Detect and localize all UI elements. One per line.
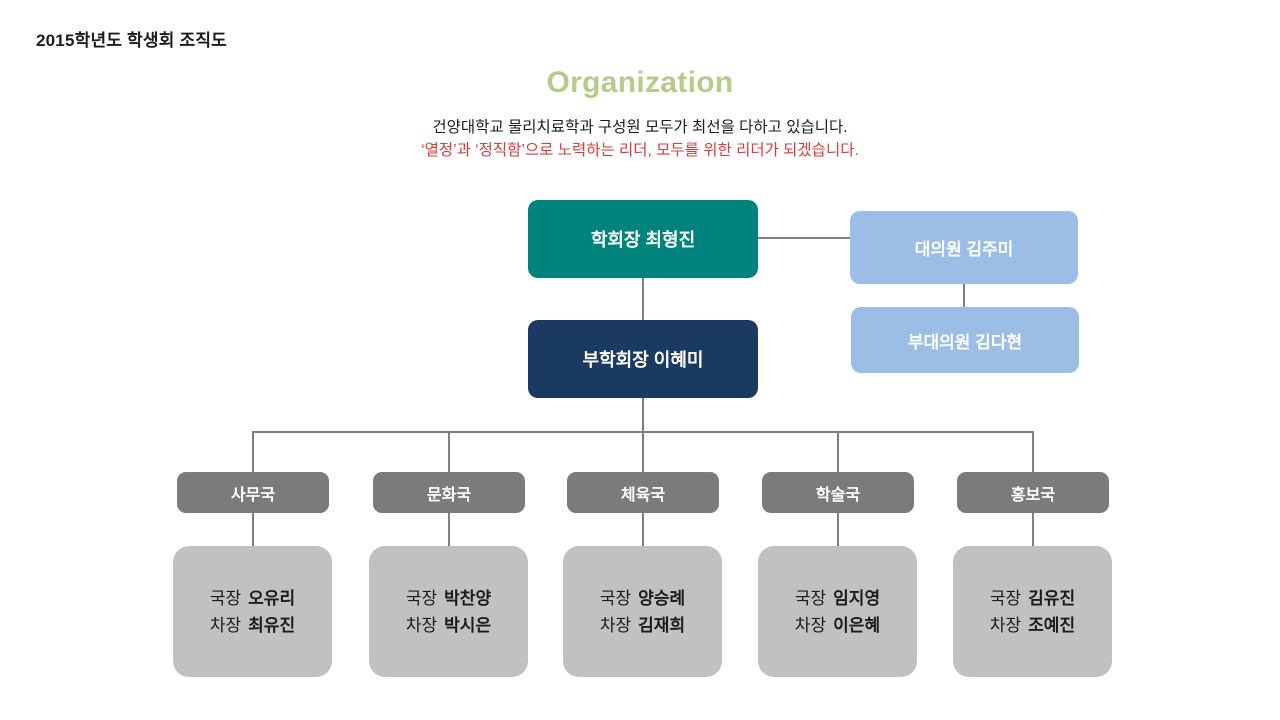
dept-header-2-label: 문화국 [427,481,471,505]
member-role: 국장 [600,589,631,608]
connector-drop-dept-4 [837,431,839,472]
member-role: 국장 [406,589,437,608]
node-president[interactable]: 학회장 최형진 [528,200,758,278]
dept-header-4-label: 학술국 [816,481,860,505]
dept-header-4[interactable]: 학술국 [762,472,914,513]
member-row: 국장임지영 [795,585,880,612]
connector-vice-stem [642,398,644,432]
connector-drop-dept-5 [1032,431,1034,472]
member-role: 차장 [990,616,1021,635]
connector-president-to-vice [642,278,644,320]
node-vice-president[interactable]: 부학회장 이혜미 [528,320,758,398]
connector-dept-1-to-members [252,513,254,546]
dept-members-5[interactable]: 국장김유진 차장조예진 [953,546,1112,677]
node-council-member-label: 대의원 김주미 [915,235,1014,260]
member-row: 국장양승례 [600,585,685,612]
member-name: 임지영 [833,589,880,608]
connector-president-to-council [758,237,850,239]
member-row: 차장조예진 [990,612,1075,639]
member-role: 차장 [406,616,437,635]
dept-members-4[interactable]: 국장임지영 차장이은혜 [758,546,917,677]
connector-council-to-vice-council [963,284,965,307]
member-row: 차장최유진 [210,612,295,639]
connector-drop-dept-2 [448,431,450,472]
dept-members-2[interactable]: 국장박찬양 차장박시은 [369,546,528,677]
connector-dept-5-to-members [1032,513,1034,546]
dept-header-3-label: 체육국 [621,481,665,505]
dept-header-5[interactable]: 홍보국 [957,472,1109,513]
member-name: 김유진 [1028,589,1075,608]
member-role: 국장 [990,589,1021,608]
member-row: 차장김재희 [600,612,685,639]
dept-header-3[interactable]: 체육국 [567,472,719,513]
member-role: 국장 [210,589,241,608]
connector-drop-dept-3 [642,431,644,472]
member-role: 국장 [795,589,826,608]
node-vice-president-label: 부학회장 이혜미 [583,346,704,372]
member-role: 차장 [795,616,826,635]
member-name: 조예진 [1028,616,1075,635]
node-vice-council-member[interactable]: 부대의원 김다현 [851,307,1079,373]
connector-dept-4-to-members [837,513,839,546]
dept-members-1[interactable]: 국장오유리 차장최유진 [173,546,332,677]
dept-members-3[interactable]: 국장양승례 차장김재희 [563,546,722,677]
member-name: 박찬양 [444,589,491,608]
dept-header-1-label: 사무국 [231,481,275,505]
member-row: 국장박찬양 [406,585,491,612]
member-name: 최유진 [248,616,295,635]
dept-header-5-label: 홍보국 [1011,481,1055,505]
member-row: 차장이은혜 [795,612,880,639]
member-name: 이은혜 [833,616,880,635]
member-row: 국장오유리 [210,585,295,612]
member-name: 김재희 [638,616,685,635]
connector-dept-2-to-members [448,513,450,546]
member-row: 차장박시은 [406,612,491,639]
member-role: 차장 [600,616,631,635]
node-council-member[interactable]: 대의원 김주미 [850,211,1078,284]
dept-header-2[interactable]: 문화국 [373,472,525,513]
org-chart: 학회장 최형진 부학회장 이혜미 대의원 김주미 부대의원 김다현 사무국 문화… [0,0,1280,720]
connector-dept-3-to-members [642,513,644,546]
member-row: 국장김유진 [990,585,1075,612]
member-name: 박시은 [444,616,491,635]
node-president-label: 학회장 최형진 [591,226,695,252]
member-name: 양승례 [638,589,685,608]
node-vice-council-member-label: 부대의원 김다현 [908,328,1022,353]
member-name: 오유리 [248,589,295,608]
dept-header-1[interactable]: 사무국 [177,472,329,513]
connector-drop-dept-1 [252,431,254,472]
member-role: 차장 [210,616,241,635]
